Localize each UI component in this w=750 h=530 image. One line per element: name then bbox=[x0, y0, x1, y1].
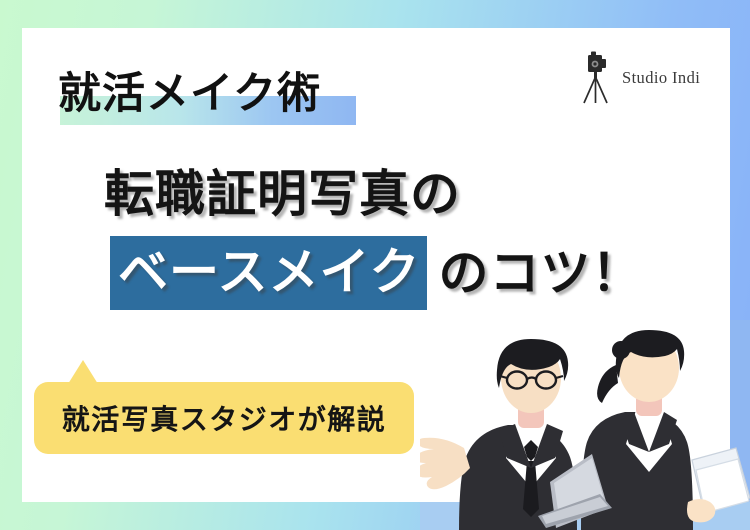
logo-wordmark: Studio Indi bbox=[622, 68, 700, 88]
eyebrow-heading: 就活メイク術 bbox=[58, 66, 321, 128]
speech-bubble-tail bbox=[68, 360, 98, 384]
speech-bubble-text: 就活写真スタジオが解説 bbox=[62, 398, 387, 438]
title-line-2: ベースメイク のコツ！ bbox=[110, 236, 643, 310]
poster-canvas: Studio Indi 就活メイク術 転職証明写真の ベースメイク のコツ！ 就… bbox=[0, 0, 750, 530]
camera-tripod-icon bbox=[578, 50, 618, 106]
speech-bubble: 就活写真スタジオが解説 bbox=[34, 382, 414, 454]
two-business-people-illustration bbox=[420, 320, 750, 530]
title-line-1: 転職証明写真の bbox=[104, 163, 461, 225]
studio-indi-logo: Studio Indi bbox=[578, 48, 718, 108]
eyebrow-text: 就活メイク術 bbox=[58, 66, 321, 122]
title-highlight-box: ベースメイク bbox=[110, 236, 427, 310]
title-suffix: のコツ！ bbox=[439, 239, 643, 307]
